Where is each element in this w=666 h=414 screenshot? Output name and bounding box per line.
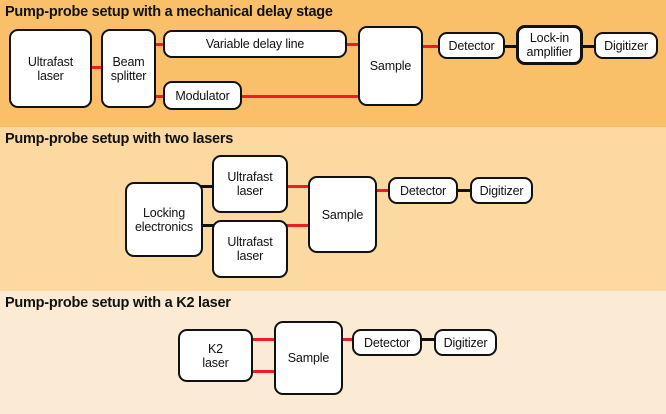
block-label: Ultrafastlaser (28, 55, 73, 83)
panel-two-lasers: Pump-probe setup with two lasers Locking… (0, 127, 666, 291)
block-detector[interactable]: Detector (388, 177, 458, 204)
block-digitizer[interactable]: Digitizer (594, 32, 658, 59)
block-detector[interactable]: Detector (438, 32, 505, 59)
block-variable-delay-line[interactable]: Variable delay line (163, 30, 347, 58)
block-label: Ultrafastlaser (227, 235, 272, 263)
block-label: Detector (448, 39, 494, 53)
block-label: Lockingelectronics (135, 206, 193, 234)
pump-probe-setups-figure: Pump-probe setup with a mechanical delay… (0, 0, 666, 414)
block-ultrafast-laser-bottom[interactable]: Ultrafastlaser (212, 220, 288, 278)
block-label: Digitizer (604, 39, 648, 53)
block-label: Lock-inamplifier (527, 31, 573, 59)
block-lock-in-amplifier[interactable]: Lock-inamplifier (516, 25, 583, 65)
block-beam-splitter[interactable]: Beamsplitter (101, 29, 156, 108)
block-label: Sample (288, 351, 329, 365)
block-label: Digitizer (444, 336, 488, 350)
panel-mechanical-delay-stage: Pump-probe setup with a mechanical delay… (0, 0, 666, 127)
block-ultrafast-laser-top[interactable]: Ultrafastlaser (212, 155, 288, 213)
block-label: Ultrafastlaser (227, 170, 272, 198)
block-digitizer[interactable]: Digitizer (470, 177, 533, 204)
block-label: Detector (364, 336, 410, 350)
panel-title-mechanical-delay-stage: Pump-probe setup with a mechanical delay… (5, 5, 333, 20)
block-label: Modulator (175, 89, 229, 103)
panel-title-k2-laser: Pump-probe setup with a K2 laser (5, 296, 231, 311)
block-sample[interactable]: Sample (308, 176, 377, 253)
block-label: Variable delay line (206, 37, 304, 51)
block-ultrafast-laser[interactable]: Ultrafastlaser (9, 29, 92, 108)
block-label: K2laser (202, 342, 228, 370)
block-sample[interactable]: Sample (358, 26, 423, 106)
connector-modulator-to-sample (237, 95, 364, 98)
block-label: Digitizer (480, 184, 524, 198)
block-sample[interactable]: Sample (274, 321, 343, 395)
block-locking-electronics[interactable]: Lockingelectronics (125, 182, 203, 257)
block-label: Beamsplitter (111, 55, 147, 83)
panel-k2-laser: Pump-probe setup with a K2 laser K2laser… (0, 291, 666, 414)
block-label: Sample (322, 208, 363, 222)
block-detector[interactable]: Detector (352, 329, 422, 356)
block-label: Sample (370, 59, 411, 73)
block-k2-laser[interactable]: K2laser (178, 329, 253, 382)
block-modulator[interactable]: Modulator (163, 81, 242, 110)
panel-title-two-lasers: Pump-probe setup with two lasers (5, 132, 233, 147)
block-digitizer[interactable]: Digitizer (434, 329, 497, 356)
block-label: Detector (400, 184, 446, 198)
